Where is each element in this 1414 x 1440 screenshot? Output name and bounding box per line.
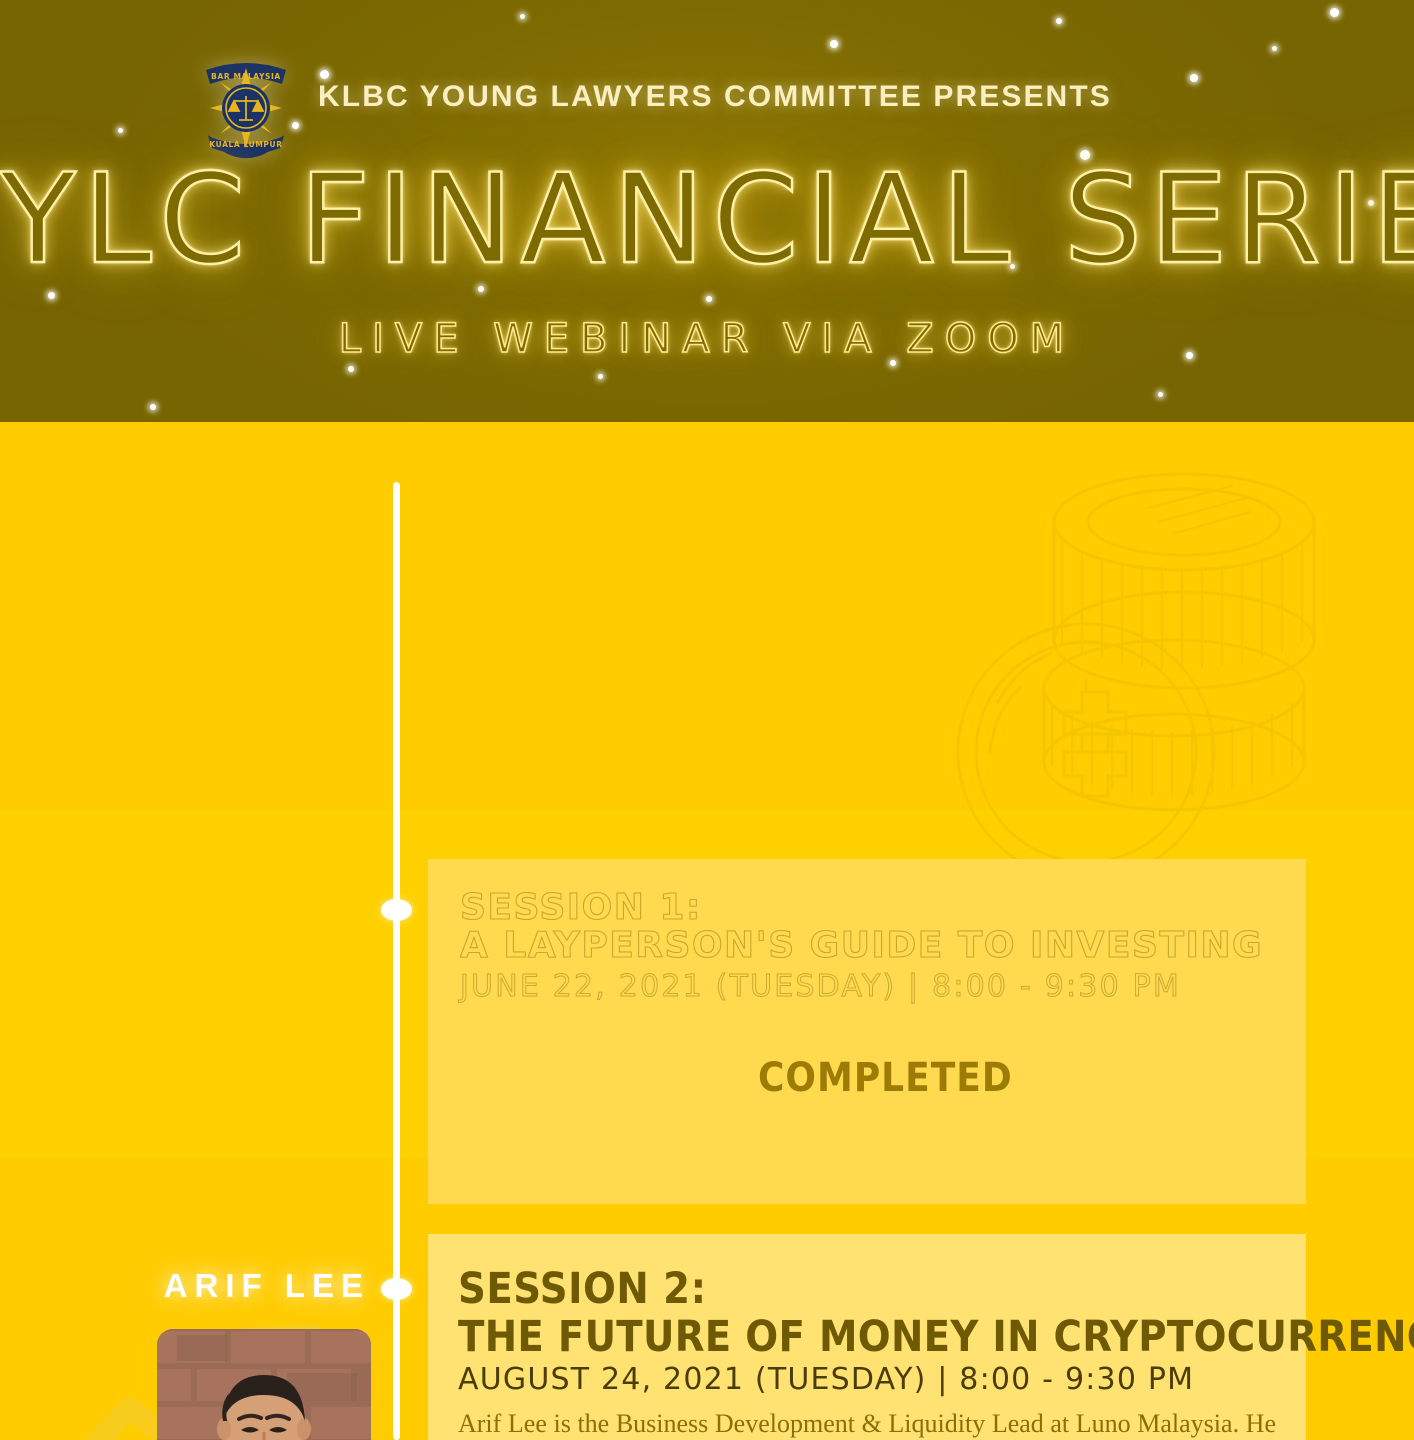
- sparkle-icon: [1330, 8, 1339, 17]
- session-1-label: SESSION 1:: [460, 887, 702, 928]
- sparkle-icon: [830, 40, 838, 48]
- poster-body: ARIF LEE: [0, 422, 1414, 1440]
- timeline-dot-session-1: [381, 899, 412, 921]
- sparkle-icon: [1056, 18, 1062, 24]
- sparkle-icon: [1158, 392, 1163, 397]
- poster-subtitle: LIVE WEBINAR VIA ZOOM: [0, 316, 1414, 362]
- session-1-title: A LAYPERSON'S GUIDE TO INVESTING: [460, 925, 1263, 966]
- presenter-line: KLBC YOUNG LAWYERS COMMITTEE PRESENTS: [318, 80, 1112, 114]
- sparkle-icon: [1190, 74, 1198, 82]
- sparkle-icon: [150, 404, 156, 410]
- session-2-label: SESSION 2:: [458, 1264, 707, 1314]
- sparkle-icon: [598, 374, 603, 379]
- poster-root: BAR MALAYSIA KUALA LUMPUR KLBC YOUNG LAW…: [0, 0, 1414, 1440]
- session-1-status-badge: COMPLETED: [758, 1055, 1013, 1101]
- sparkle-icon: [348, 366, 354, 372]
- speaker-portrait-image: [157, 1329, 371, 1440]
- speaker-name: ARIF LEE: [0, 1267, 396, 1305]
- poster-title: YLC FINANCIAL SERIES: [0, 158, 1414, 282]
- session-card-2[interactable]: SESSION 2: THE FUTURE OF MONEY IN CRYPTO…: [428, 1234, 1306, 1440]
- bar-malaysia-logo: BAR MALAYSIA KUALA LUMPUR: [196, 48, 296, 160]
- session-card-1[interactable]: SESSION 1: A LAYPERSON'S GUIDE TO INVEST…: [428, 859, 1306, 1204]
- bar-malaysia-crest-icon: BAR MALAYSIA KUALA LUMPUR: [196, 48, 296, 160]
- sparkle-icon: [706, 296, 712, 302]
- sparkle-icon: [520, 14, 525, 19]
- logo-ribbon-top-text: BAR MALAYSIA: [211, 72, 281, 81]
- speaker-photo: [157, 1329, 371, 1440]
- session-2-title: THE FUTURE OF MONEY IN CRYPTOCURRENCY: [458, 1312, 1414, 1362]
- poster-header: BAR MALAYSIA KUALA LUMPUR KLBC YOUNG LAW…: [0, 0, 1414, 422]
- sparkle-icon: [1272, 46, 1277, 51]
- session-1-date: JUNE 22, 2021 (TUESDAY) | 8:00 - 9:30 PM: [460, 969, 1181, 1004]
- sparkle-icon: [118, 128, 123, 133]
- session-2-speaker-bio: Arif Lee is the Business Development & L…: [458, 1410, 1276, 1440]
- sparkle-icon: [320, 70, 329, 79]
- session-2-date: AUGUST 24, 2021 (TUESDAY) | 8:00 - 9:30 …: [458, 1362, 1194, 1397]
- sparkle-icon: [48, 292, 55, 299]
